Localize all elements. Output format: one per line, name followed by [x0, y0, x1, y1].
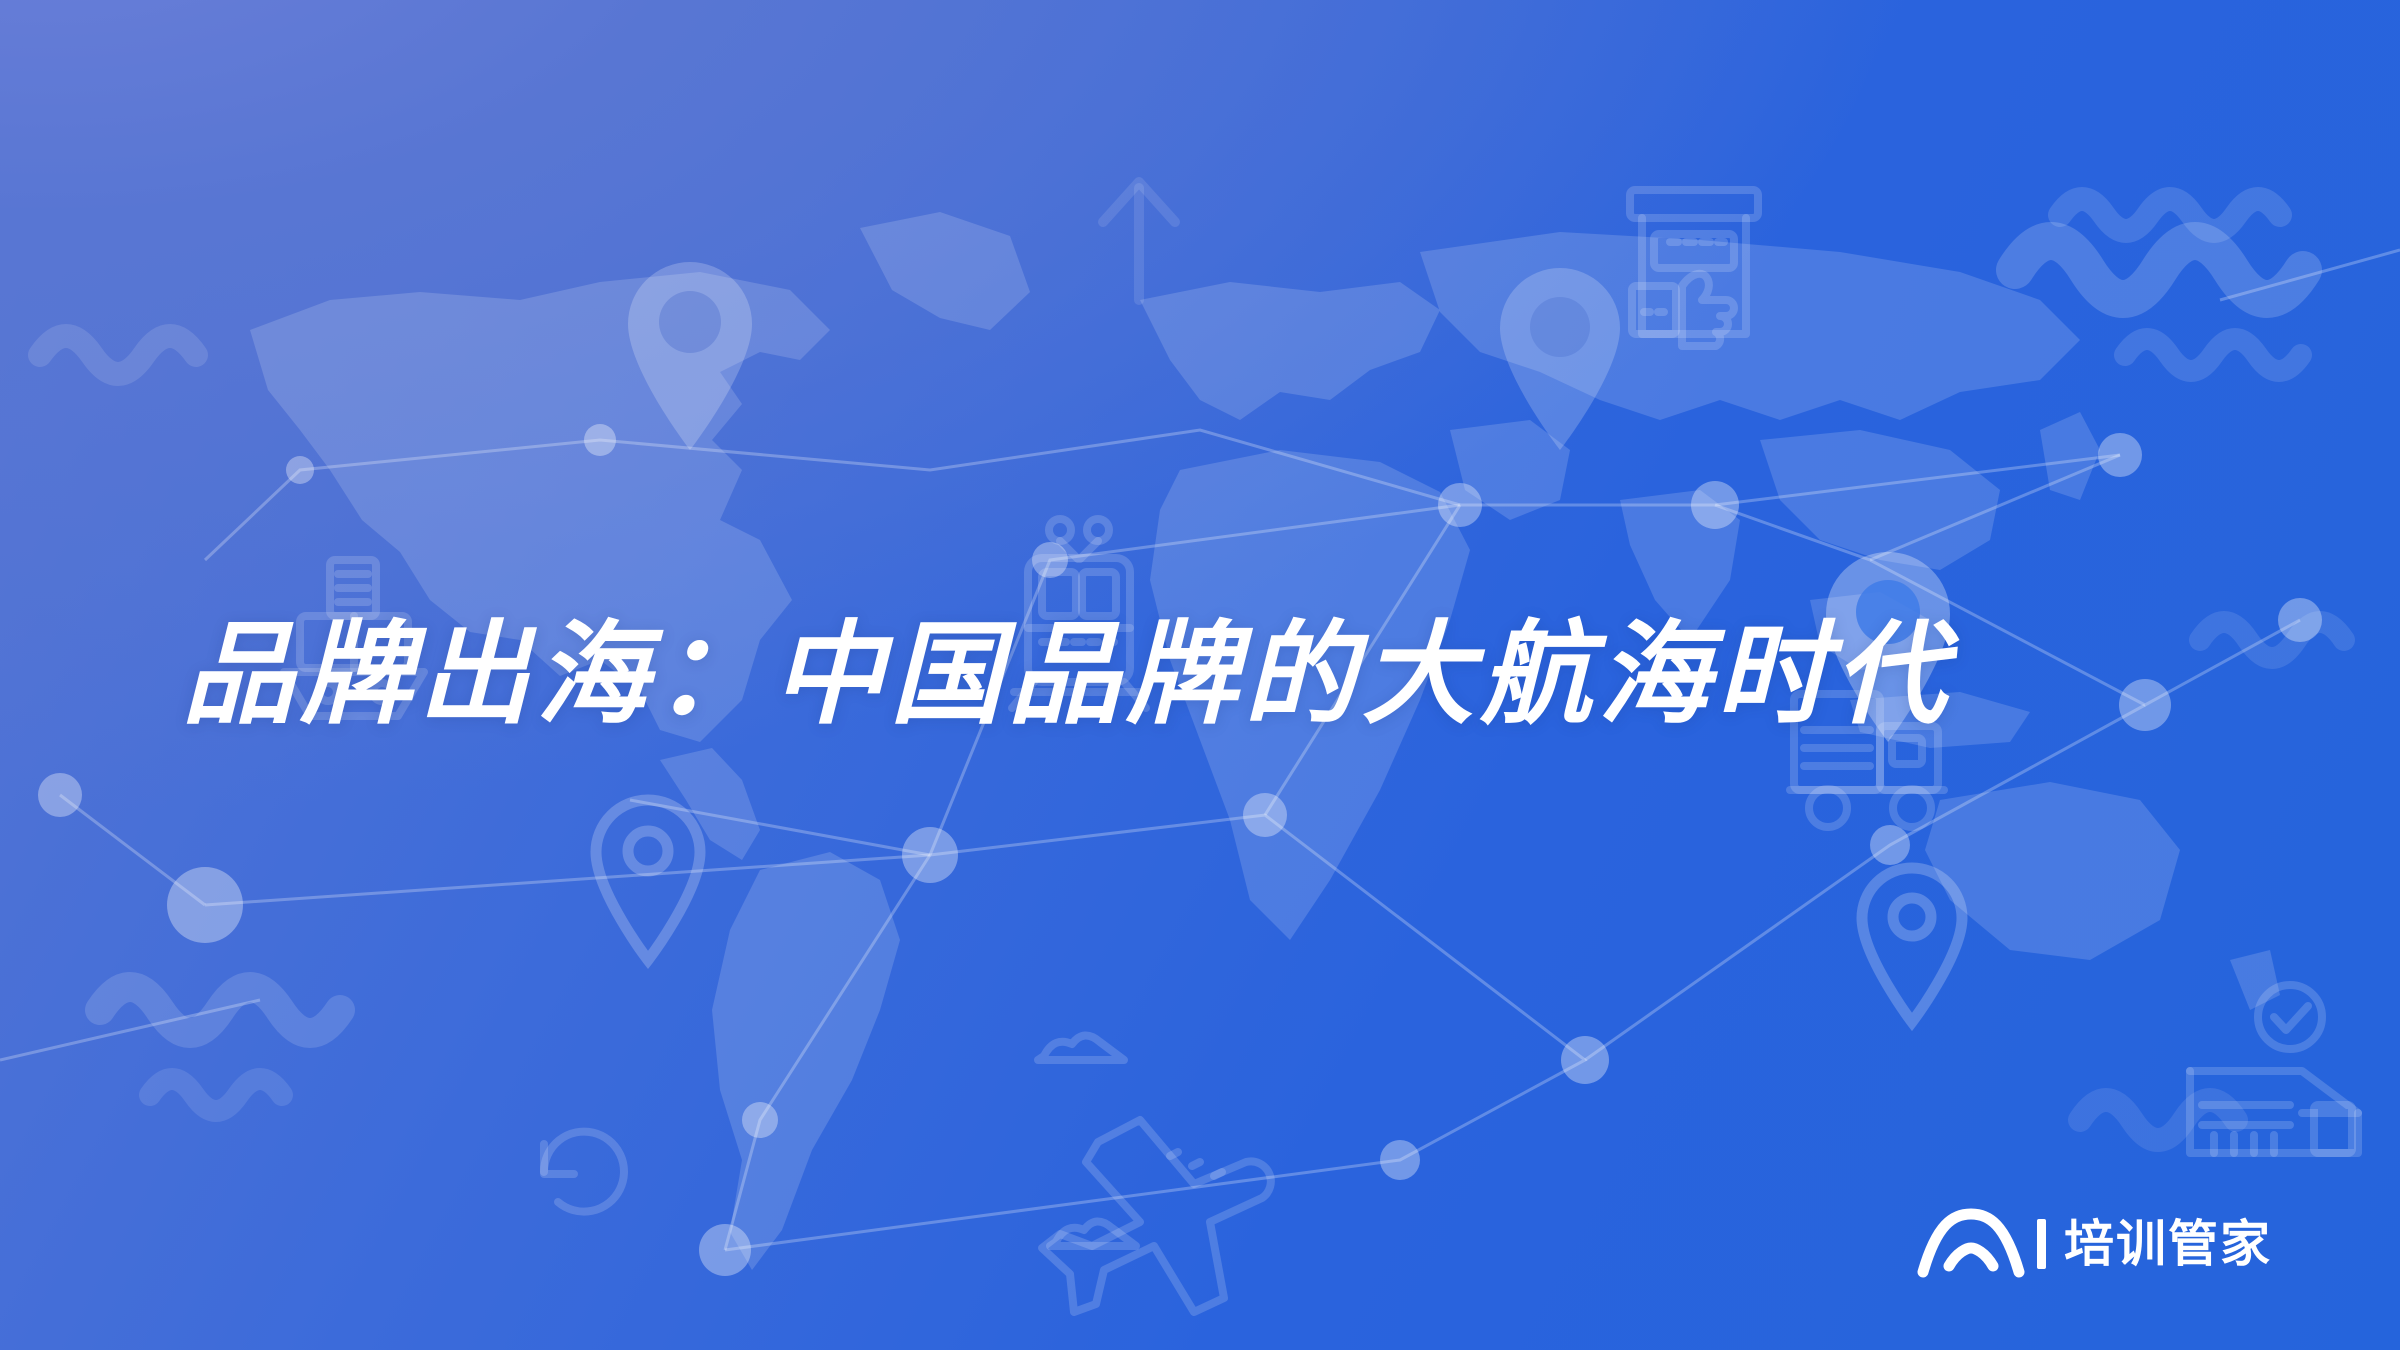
brand-divider-bar	[2037, 1219, 2046, 1269]
page-title: 品牌出海：中国品牌的大航海时代	[182, 609, 1952, 741]
ai-peak-mark	[1915, 1208, 2027, 1280]
presentation-slide: 品牌出海：中国品牌的大航海时代 培训管家	[0, 0, 2400, 1350]
title-container: 品牌出海：中国品牌的大航海时代	[0, 0, 2400, 1350]
brand-logo: 培训管家	[1915, 1206, 2272, 1282]
brand-name-label: 培训管家	[2064, 1219, 2272, 1269]
